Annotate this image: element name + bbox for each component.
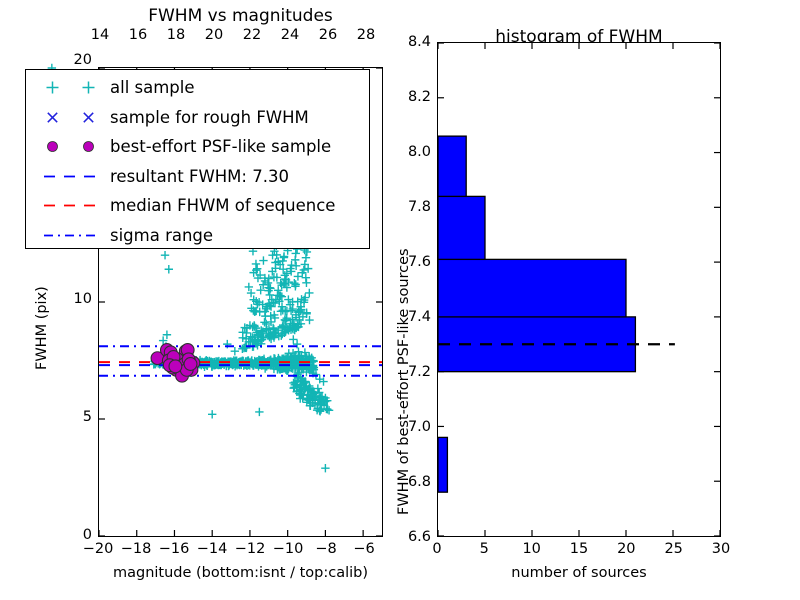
- tick-label: 20: [617, 541, 635, 557]
- tick-label: 7.0: [408, 419, 431, 435]
- tick-label: 7.6: [408, 254, 431, 270]
- tick-label: 8.2: [408, 89, 431, 105]
- tick-label: 8.0: [408, 144, 431, 160]
- tick-label: 10: [522, 541, 540, 557]
- right-plot-area: [437, 42, 721, 537]
- right-plot-svg: [438, 43, 720, 536]
- tick-label: 7.2: [408, 364, 431, 380]
- tick-label: 7.4: [408, 309, 431, 325]
- tick-label: 30: [712, 541, 730, 557]
- tick-label: 6.6: [408, 529, 431, 545]
- right-ytick-labels: 8.4 8.2 8.0 7.8 7.6 7.4 7.2 7.0 6.8 6.6: [0, 0, 437, 600]
- right-xlabel: number of sources: [437, 565, 721, 581]
- tick-label: 0: [432, 541, 441, 557]
- tick-label: 8.4: [408, 34, 431, 50]
- tick-label: 5: [480, 541, 489, 557]
- right-xtick-labels: 0 5 10 15 20 25 30: [437, 541, 721, 559]
- figure-canvas: FWHM vs magnitudes 14 16 18 20 22 24 26 …: [0, 0, 800, 600]
- histogram-bars: [438, 136, 635, 492]
- tick-label: 7.8: [408, 199, 431, 215]
- tick-label: 25: [664, 541, 682, 557]
- tick-label: 15: [570, 541, 588, 557]
- tick-label: 6.8: [408, 474, 431, 490]
